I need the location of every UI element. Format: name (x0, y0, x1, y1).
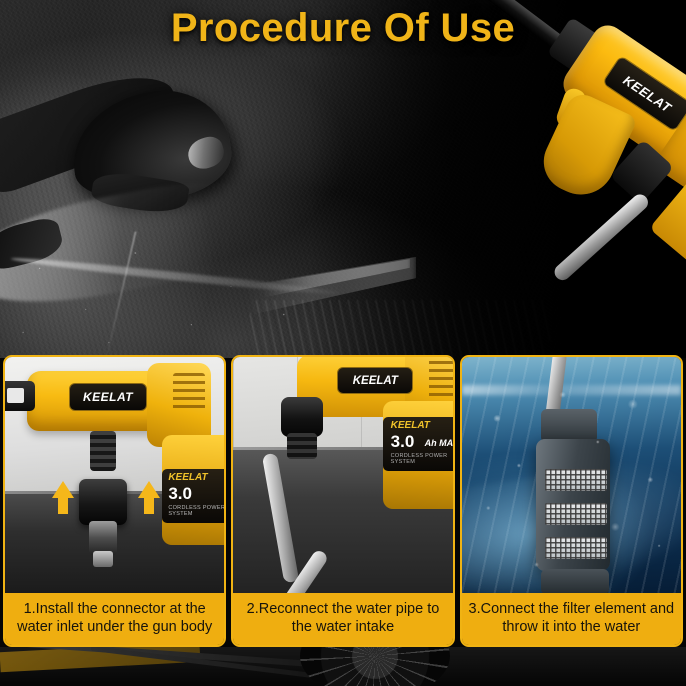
water-hose (551, 191, 651, 283)
motor-vents-icon (429, 361, 452, 397)
step-panel-2[interactable]: KEELAT KEELAT 3.0 Ah MAX CORDLESS POWER … (231, 355, 454, 647)
hero-image: KEELAT Procedure Of Use (0, 0, 686, 358)
step-2-caption: 2.Reconnect the water pipe to the water … (233, 593, 452, 645)
battery-capacity: 3.0 (391, 433, 415, 450)
brand-badge: KEELAT (69, 383, 147, 411)
motor-vents-icon (173, 373, 205, 411)
steps-row: KEELAT KEELAT 3.0 CORDLESS POWER SYSTEM … (0, 355, 686, 647)
connector-barrel (89, 521, 117, 555)
battery-label: KEELAT 3.0 CORDLESS POWER SYSTEM (162, 469, 224, 523)
battery-capacity: 3.0 (168, 485, 192, 502)
gun-front-opening (7, 388, 24, 403)
battery-subtext: CORDLESS POWER SYSTEM (391, 453, 453, 465)
battery-label: KEELAT 3.0 Ah MAX CORDLESS POWER SYSTEM (383, 417, 453, 471)
up-arrow-left-stem-icon (58, 498, 68, 514)
step-panel-3[interactable]: 3.Connect the filter element and throw i… (460, 355, 683, 647)
up-arrow-right-icon (138, 481, 160, 498)
step-3-image (462, 357, 681, 593)
battery-subtext: CORDLESS POWER SYSTEM (168, 505, 224, 517)
air-bubbles (462, 357, 681, 593)
step-2-image: KEELAT KEELAT 3.0 Ah MAX CORDLESS POWER … (233, 357, 452, 593)
brand-name: KEELAT (83, 390, 133, 404)
brand-badge: KEELAT (337, 367, 413, 394)
battery-unit: Ah MAX (425, 438, 453, 448)
water-inlet-thread (90, 431, 116, 471)
wheel-spokes (300, 647, 450, 686)
page-title: Procedure Of Use (0, 6, 686, 51)
coupler-thread (287, 433, 317, 459)
battery-brand: KEELAT (168, 472, 207, 483)
battery-brand: KEELAT (391, 420, 430, 431)
step-panel-1[interactable]: KEELAT KEELAT 3.0 CORDLESS POWER SYSTEM … (3, 355, 226, 647)
step-1-image: KEELAT KEELAT 3.0 CORDLESS POWER SYSTEM (5, 357, 224, 593)
step-1-caption: 1.Install the connector at the water inl… (5, 593, 224, 645)
step-3-caption: 3.Connect the filter element and throw i… (462, 593, 681, 645)
brand-name: KEELAT (353, 375, 398, 387)
quick-connector (79, 479, 127, 525)
water-intake-coupler (281, 397, 323, 437)
up-arrow-left-icon (52, 481, 74, 498)
product-infographic: KEELAT Procedure Of Use KEELAT (0, 0, 686, 686)
footer-image-strip (0, 647, 686, 686)
battery-pack (649, 175, 686, 276)
connector-tip (93, 551, 113, 567)
up-arrow-right-stem-icon (144, 498, 154, 514)
